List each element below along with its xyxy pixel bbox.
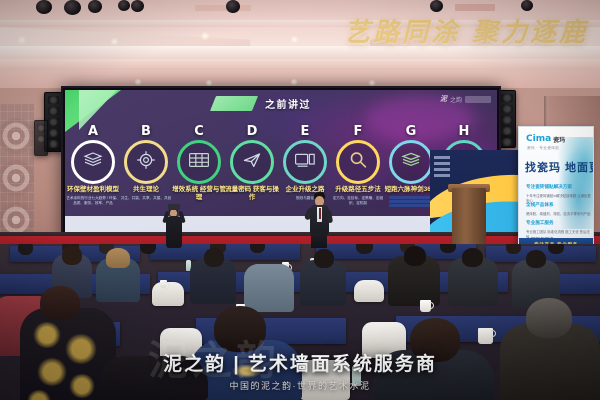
wall-medallion bbox=[0, 160, 34, 196]
slide-label-a: 环保壁材盈利模型 艺术涂料的行业七大趋势 / 环保、品质、服务、效率、产品 bbox=[65, 186, 121, 205]
standee-block-1-heading: 专注瓷砖铺贴解决方案 bbox=[526, 184, 572, 189]
slide-logo-bar bbox=[465, 96, 491, 103]
audience-head bbox=[18, 244, 33, 255]
standee-logo-cn: 瓷玛 bbox=[553, 135, 565, 144]
slide-label-b: 共生理论 共生、共赢、共享、共建、共创 bbox=[118, 186, 174, 201]
standee-block-2-heading: 全线产品体系 bbox=[526, 202, 554, 207]
slide-circle-a bbox=[71, 140, 115, 184]
slide-letter-h: H bbox=[442, 124, 486, 139]
ceiling-spotlight bbox=[430, 0, 443, 12]
slide-letter-e: E bbox=[283, 124, 327, 139]
hall-banner-title: 艺路同涂 聚力逐鹿 bbox=[344, 12, 588, 49]
presenter-legs bbox=[311, 233, 327, 248]
standee-logo-latin: Cima bbox=[526, 134, 551, 144]
ceiling-downlight bbox=[17, 36, 27, 44]
ceiling-vent-left bbox=[195, 5, 251, 11]
standee-logo: Cima 瓷玛 bbox=[526, 134, 565, 144]
slide-label-f-sub: 定方向、定目标、定策略、定组织、定机制 bbox=[330, 196, 386, 205]
wall-medallion bbox=[0, 118, 34, 154]
ceiling-downlight bbox=[290, 79, 298, 85]
side-speaker-left bbox=[34, 120, 48, 156]
slide-circle-c bbox=[177, 140, 221, 184]
ceiling-spotlight bbox=[131, 0, 144, 12]
slide-letter-g: G bbox=[389, 124, 433, 139]
slide-circle-d bbox=[230, 140, 274, 184]
audience-head bbox=[204, 248, 224, 267]
slide-letter-row: A B C D E F G H bbox=[65, 124, 497, 140]
slide-logo-text: 之韵 bbox=[450, 95, 462, 104]
slide-logo-mark: 泥 bbox=[440, 94, 447, 104]
backdrop-text-lines bbox=[434, 156, 450, 177]
monitor-icon bbox=[294, 152, 316, 173]
ceiling-beam-lower bbox=[0, 60, 600, 70]
audience-photographer bbox=[163, 204, 185, 248]
audience-head bbox=[62, 246, 82, 265]
audience-head bbox=[404, 246, 426, 266]
overlay-subtitle: 中国的泥之韵·世界的艺术水泥 bbox=[0, 379, 600, 392]
standee-headline: 找瓷玛 地面更安全 bbox=[525, 159, 594, 175]
target-icon bbox=[136, 150, 156, 175]
standee-tagline: 瓷玛 · 专业瓷砖胶 bbox=[527, 146, 559, 151]
slide-label-f: 升级路径五步法 定方向、定目标、定策略、定组织、定机制 bbox=[330, 186, 386, 205]
audience-head bbox=[40, 286, 80, 320]
ceiling-downlight bbox=[290, 36, 299, 43]
gold-embroidery bbox=[32, 322, 62, 348]
chair bbox=[354, 280, 384, 302]
grid-icon bbox=[188, 152, 210, 173]
ceiling-spotlight bbox=[64, 0, 81, 15]
slide-parallelogram-accent bbox=[210, 96, 258, 111]
slide-label-b-title: 共生理论 bbox=[118, 186, 174, 194]
slide-label-c: 增效系统 经营与管理 bbox=[171, 186, 227, 202]
phone-device bbox=[168, 204, 180, 210]
overlay-title: 泥之韵 | 艺术墙面系统服务商 bbox=[0, 349, 600, 376]
slide-label-f-title: 升级路径五步法 bbox=[330, 186, 386, 194]
slide-label-a-title: 环保壁材盈利模型 bbox=[65, 186, 121, 194]
audience-head bbox=[548, 244, 564, 254]
audience-head bbox=[526, 250, 546, 268]
slide-label-c-title: 增效系统 经营与管理 bbox=[171, 186, 227, 202]
ceiling-downlight bbox=[200, 32, 210, 40]
slide-brand-logo: 泥 之韵 bbox=[440, 94, 491, 104]
slide-circle-b bbox=[124, 140, 168, 184]
slide-letter-d: D bbox=[230, 124, 274, 139]
ceiling-spotlight bbox=[521, 0, 533, 11]
audience-head bbox=[214, 306, 266, 352]
presenter-tie bbox=[319, 208, 321, 219]
ceiling-spotlight bbox=[226, 0, 240, 13]
slide-heading: 之前讲过 bbox=[265, 96, 311, 111]
audience-head bbox=[462, 248, 483, 267]
audience-head bbox=[314, 249, 334, 268]
conference-photo-scene: 艺路同涂 聚力逐鹿 之前讲过 泥 之韵 bbox=[0, 0, 600, 400]
wooden-podium bbox=[452, 188, 486, 244]
ceiling-spotlight bbox=[88, 0, 102, 13]
ceiling-spotlight bbox=[36, 0, 52, 14]
ceiling-spotlight bbox=[118, 0, 130, 11]
slide-label-b-sub: 共生、共赢、共享、共建、共创 bbox=[118, 196, 174, 201]
audience-head bbox=[506, 244, 521, 254]
magnifier-icon bbox=[348, 150, 368, 175]
slide-circle-e bbox=[283, 140, 327, 184]
slide-label-d: 流量密码 获客与操作 bbox=[224, 186, 280, 202]
ceiling-vent-right bbox=[455, 4, 495, 11]
slide-letter-f: F bbox=[336, 124, 380, 139]
coffee-cup bbox=[420, 300, 431, 312]
standee-block-3-heading: 专业施工服务 bbox=[526, 220, 554, 225]
ceiling-downlight bbox=[134, 79, 142, 85]
audience-member bbox=[244, 264, 294, 312]
slide-label-a-sub: 艺术涂料的行业七大趋势 / 环保、品质、服务、效率、产品 bbox=[65, 196, 121, 205]
layers-icon bbox=[83, 151, 103, 174]
slide-letter-a: A bbox=[71, 124, 115, 139]
cima-standee-banner: Cima 瓷玛 瓷玛 · 专业瓷砖胶 找瓷玛 地面更安全 专注瓷砖铺贴解决方案 … bbox=[518, 126, 594, 252]
slide-label-d-title: 流量密码 获客与操作 bbox=[224, 186, 280, 202]
audience-head-grey-hair bbox=[526, 298, 572, 338]
slide-letter-b: B bbox=[124, 124, 168, 139]
paper-plane-icon bbox=[242, 151, 262, 174]
slide-circle-f bbox=[336, 140, 380, 184]
slide-letter-c: C bbox=[177, 124, 221, 139]
coffee-cup bbox=[478, 328, 493, 344]
layers-icon bbox=[401, 151, 421, 174]
slide-circle-g bbox=[389, 140, 433, 184]
photographer-torso bbox=[166, 216, 182, 248]
ceiling-downlight bbox=[110, 38, 119, 45]
coffee-cup bbox=[160, 280, 167, 288]
presenter bbox=[306, 192, 332, 248]
audience-hat bbox=[106, 248, 130, 268]
overlay-caption: 泥之韵 | 艺术墙面系统服务商 中国的泥之韵·世界的艺术水泥 bbox=[0, 349, 600, 392]
